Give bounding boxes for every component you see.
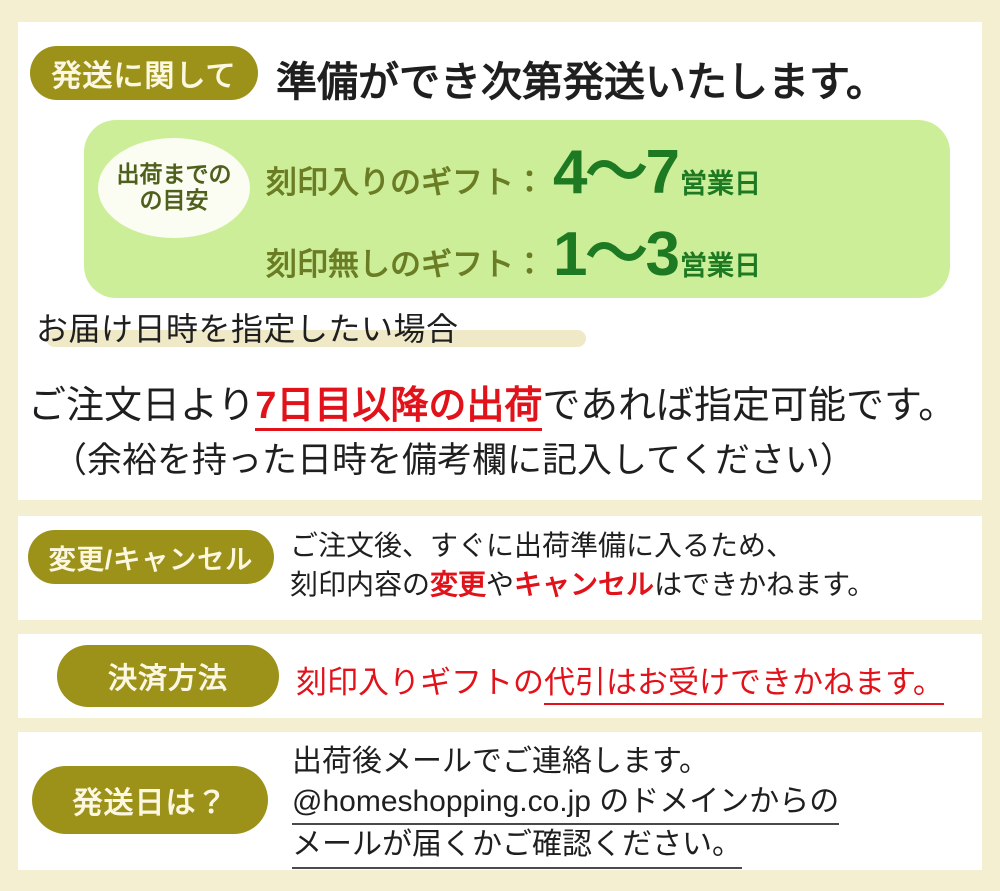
delivery-date-rule: ご注文日より7日目以降の出荷であれば指定可能です。 — [28, 374, 956, 429]
rule-prefix: ご注文日より — [28, 385, 255, 427]
lead-time-unit: 営業日 — [680, 162, 761, 201]
ship-date-domain: @homeshopping.co.jp のドメインからの — [292, 782, 839, 825]
change-cancel-line2: 刻印内容の変更やキャンセルはできかねます。 — [290, 566, 875, 605]
lead-time-row-plain: 刻印無しのギフト： 1〜3 営業日 — [266, 226, 761, 285]
section-label-change-cancel: 変更/キャンセル — [28, 530, 274, 584]
shipping-info-graphic: 発送に関して 準備ができ次第発送いたします。 出荷までの の目安 刻印入りのギフ… — [0, 0, 1000, 891]
ship-date-line3: メールが届くかご確認ください。 — [292, 825, 839, 868]
delivery-date-subhead: お届け日時を指定したい場合 — [36, 304, 459, 350]
payment-underlined: 代引はお受けできかねます。 — [544, 665, 944, 705]
lead-time-days: 1〜3 — [553, 226, 678, 285]
lead-time-badge-line2: の目安 — [140, 188, 209, 214]
ship-date-line1: 出荷後メールでご連絡します。 — [292, 742, 839, 782]
section-label-payment-method: 決済方法 — [57, 645, 279, 707]
lead-time-label: 刻印入りのギフト： — [266, 157, 545, 202]
ship-date-text: 出荷後メールでご連絡します。 @homeshopping.co.jp のドメイン… — [292, 742, 839, 869]
ship-date-line2: @homeshopping.co.jp のドメインからの — [292, 782, 839, 825]
lead-time-badge-line1: 出荷までの — [117, 162, 232, 188]
change-cancel-line1: ご注文後、すぐに出荷準備に入るため、 — [290, 527, 875, 566]
delivery-date-subhead-wrap: お届け日時を指定したい場合 — [36, 305, 459, 349]
lead-time-days: 4〜7 — [553, 144, 678, 203]
payment-method-text: 刻印入りギフトの代引はお受けできかねます。 — [296, 657, 944, 702]
section-label-shipping: 発送に関して — [30, 46, 258, 100]
shipping-headline: 準備ができ次第発送いたします。 — [276, 48, 887, 108]
line2-emphasis-cancel: キャンセル — [514, 569, 654, 600]
payment-prefix: 刻印入りギフトの — [296, 665, 544, 700]
line2-suffix: はできかねます。 — [654, 569, 875, 600]
lead-time-label: 刻印無しのギフト： — [266, 239, 545, 284]
ship-date-confirm: メールが届くかご確認ください。 — [292, 825, 742, 868]
rule-suffix: であれば指定可能です。 — [542, 385, 956, 427]
section-label-ship-date: 発送日は？ — [32, 766, 268, 834]
line2-mid: や — [486, 569, 514, 600]
lead-time-box: 出荷までの の目安 刻印入りのギフト： 4〜7 営業日 刻印無しのギフト： 1〜… — [84, 120, 950, 298]
change-cancel-text: ご注文後、すぐに出荷準備に入るため、 刻印内容の変更やキャンセルはできかねます。 — [290, 527, 875, 604]
lead-time-badge: 出荷までの の目安 — [98, 138, 250, 238]
lead-time-unit: 営業日 — [680, 244, 761, 283]
rule-emphasis: 7日目以降の出荷 — [255, 385, 542, 431]
line2-emphasis-change: 変更 — [430, 569, 486, 600]
line2-prefix: 刻印内容の — [290, 569, 430, 600]
delivery-date-note: （余裕を持った日時を備考欄に記入してください） — [52, 432, 855, 483]
lead-time-row-engraved: 刻印入りのギフト： 4〜7 営業日 — [266, 144, 761, 203]
